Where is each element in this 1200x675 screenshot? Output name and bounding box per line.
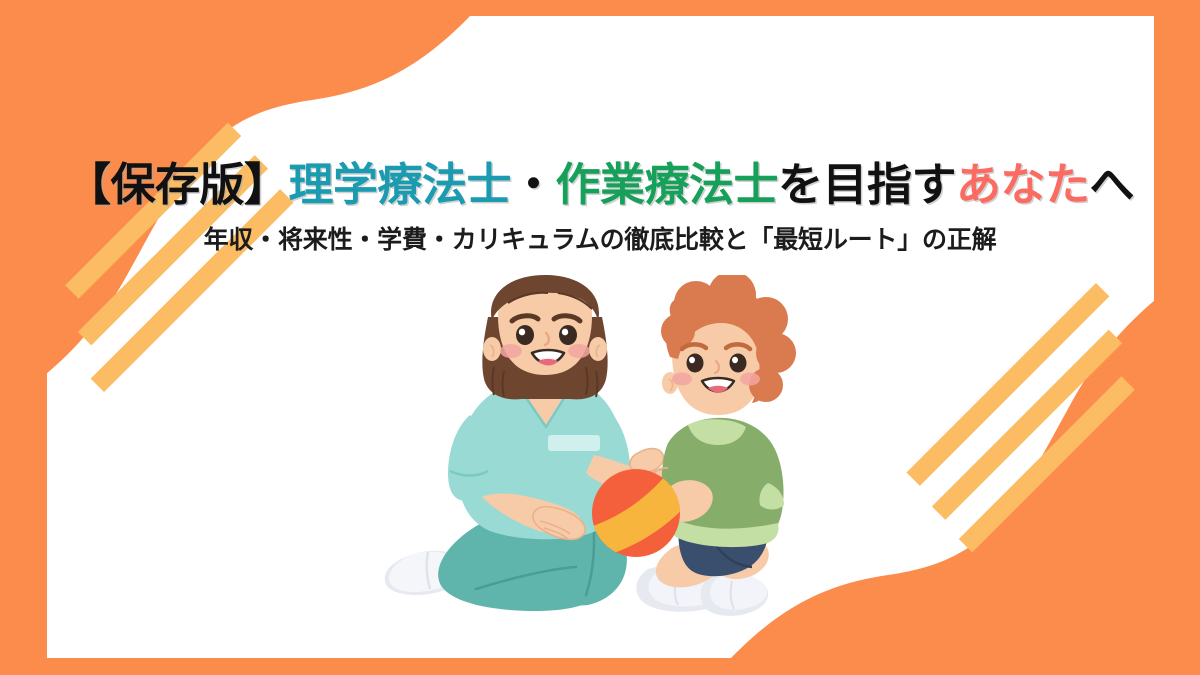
title-segment-you: あなた	[956, 159, 1090, 210]
page-subtitle: 年収・将来性・学費・カリキュラムの徹底比較と「最短ルート」の正解	[0, 225, 1200, 255]
frame-band-bottom	[0, 658, 1200, 675]
page-title: 【保存版】理学療法士・作業療法士を目指すあなたへ	[0, 158, 1200, 211]
frame-band-top	[0, 0, 1200, 16]
title-segment-aiming: を目指す	[778, 159, 956, 210]
text-block: 【保存版】理学療法士・作業療法士を目指すあなたへ 年収・将来性・学費・カリキュラ…	[0, 158, 1200, 255]
therapist-name-badge	[548, 435, 600, 451]
title-segment-pt: 理学療法士	[288, 159, 511, 210]
illustration-therapist-and-child	[380, 275, 820, 640]
title-segment-separator: ・	[511, 159, 556, 210]
title-segment-tag: 【保存版】	[66, 159, 289, 210]
frame-band-right	[1154, 0, 1200, 675]
frame-band-left	[0, 0, 47, 675]
title-segment-to: へ	[1090, 159, 1135, 210]
title-segment-ot: 作業療法士	[555, 159, 778, 210]
slide-canvas: 【保存版】理学療法士・作業療法士を目指すあなたへ 年収・将来性・学費・カリキュラ…	[0, 0, 1200, 675]
figure-therapist	[385, 275, 682, 611]
